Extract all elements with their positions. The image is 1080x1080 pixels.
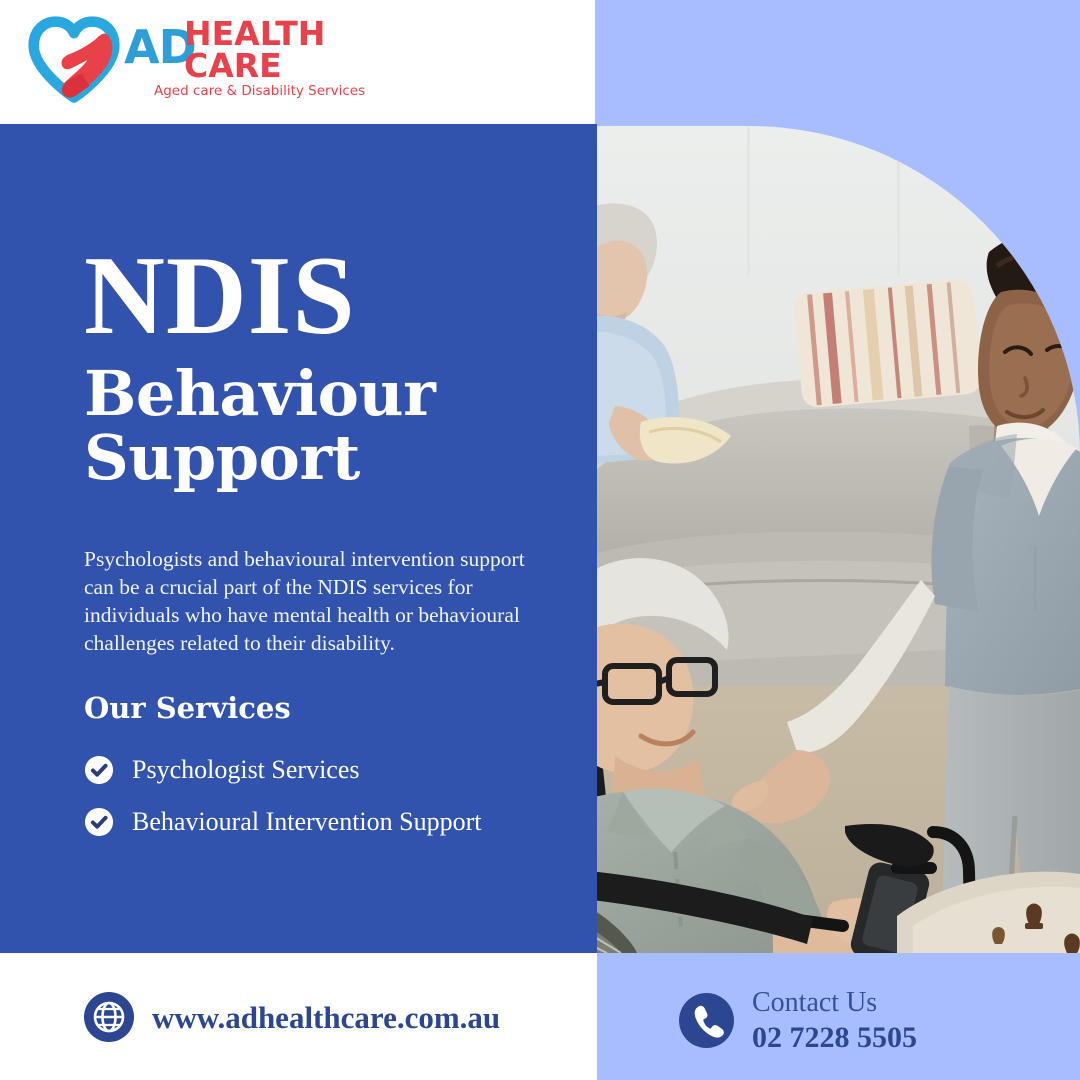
list-item[interactable]: Behavioural Intervention Support [84,796,584,848]
hero-subtitle: Behaviour Support [84,362,584,490]
contact-text-group: Contact Us 02 7228 5505 [752,986,917,1056]
header-bar: AD HEALTH CARE Aged care & Disability Se… [0,0,595,124]
check-circle-icon [84,755,114,785]
brand-logo[interactable]: AD HEALTH CARE Aged care & Disability Se… [26,13,299,105]
services-heading: Our Services [84,694,291,723]
contact-phone-number: 02 7228 5505 [752,1020,917,1055]
logo-care-text: CARE [184,49,282,82]
service-label: Behavioural Intervention Support [132,809,481,835]
contact-label: Contact Us [752,986,917,1020]
poster-canvas: AD HEALTH CARE Aged care & Disability Se… [0,0,1080,1080]
logo-tagline: Aged care & Disability Services [154,85,365,99]
hero-body-text: Psychologists and behavioural interventi… [84,546,534,658]
hero-title: NDIS [84,240,356,352]
service-label: Psychologist Services [132,757,360,783]
globe-icon [84,992,134,1042]
services-list: Psychologist Services Behavioural Interv… [84,744,584,848]
hero-photo [597,126,1080,953]
website-url-text: www.adhealthcare.com.au [152,1002,500,1033]
contact-block[interactable]: Contact Us 02 7228 5505 [679,986,917,1056]
heart-hand-logo-icon [26,13,122,105]
check-circle-icon [84,807,114,837]
website-link[interactable]: www.adhealthcare.com.au [84,992,500,1042]
phone-icon [679,993,734,1048]
list-item[interactable]: Psychologist Services [84,744,584,796]
brand-wordmark: AD HEALTH CARE Aged care & Disability Se… [124,13,299,105]
